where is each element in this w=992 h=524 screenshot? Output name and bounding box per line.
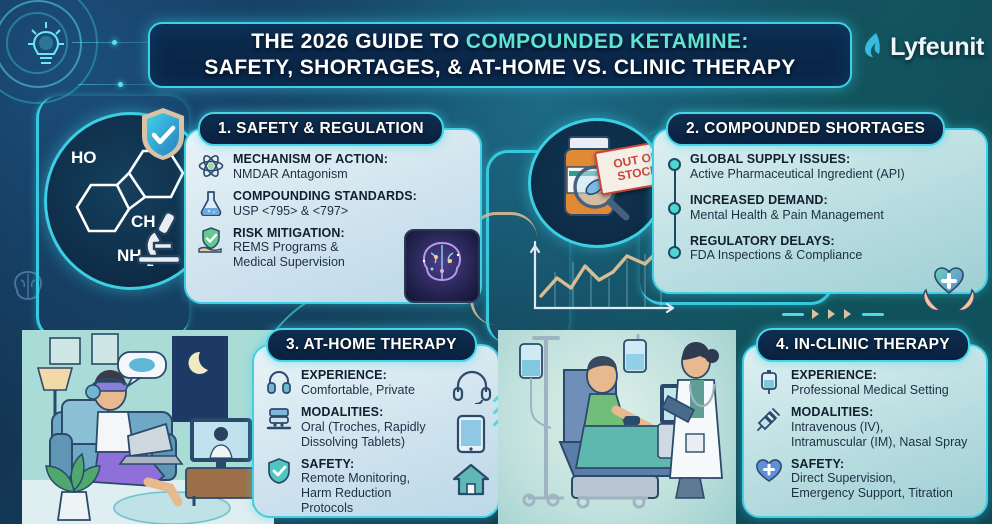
lightning-leaf-icon bbox=[862, 32, 884, 62]
item-description: Direct Supervision, Emergency Support, T… bbox=[791, 471, 953, 501]
in-clinic-therapy-illustration bbox=[498, 330, 736, 524]
item-description: Professional Medical Setting bbox=[791, 383, 949, 398]
shield-check-icon bbox=[266, 458, 292, 484]
brand-name: Lyfeunit bbox=[890, 33, 984, 62]
panel-4-items: EXPERIENCE: Professional Medical Setting… bbox=[756, 368, 978, 508]
brain-network-thumbnail bbox=[404, 229, 480, 303]
item-description: Comfortable, Private bbox=[301, 383, 415, 398]
brain-network-graphic bbox=[406, 231, 478, 301]
list-item-text: INCREASED DEMAND: Mental Health & Pain M… bbox=[690, 193, 884, 223]
list-item-text: GLOBAL SUPPLY ISSUES: Active Pharmaceuti… bbox=[690, 152, 905, 182]
list-item: MECHANISM OF ACTION: NMDAR Antagonism bbox=[198, 152, 472, 182]
timeline-dot bbox=[668, 202, 681, 215]
item-heading: INCREASED DEMAND: bbox=[690, 193, 884, 208]
list-item: EXPERIENCE: Professional Medical Setting bbox=[756, 368, 978, 398]
molecule-label-ho: HO bbox=[71, 148, 97, 167]
item-description: Active Pharmaceutical Ingredient (API) bbox=[690, 167, 905, 182]
list-item: SAFETY: Remote Monitoring, Harm Reductio… bbox=[266, 457, 438, 517]
panel-3-header: 3. AT-HOME THERAPY bbox=[266, 328, 477, 362]
item-description: Remote Monitoring, Harm Reduction Protoc… bbox=[301, 471, 438, 516]
list-item-text: MODALITIES: Oral (Troches, Rapidly Disso… bbox=[301, 405, 426, 450]
iv-bag-icon bbox=[756, 369, 782, 395]
item-heading: GLOBAL SUPPLY ISSUES: bbox=[690, 152, 905, 167]
item-heading: COMPOUNDING STANDARDS: bbox=[233, 189, 417, 204]
item-description: REMS Programs & Medical Supervision bbox=[233, 240, 345, 270]
item-heading: SAFETY: bbox=[791, 457, 953, 472]
microscope-icon bbox=[128, 196, 190, 270]
item-description: Oral (Troches, Rapidly Dissolving Tablet… bbox=[301, 420, 426, 450]
troche-icon bbox=[266, 406, 292, 432]
item-heading: MECHANISM OF ACTION: bbox=[233, 152, 388, 167]
pill-bottle-out-of-stock-illustration: OUT OF STOCK bbox=[528, 118, 666, 248]
home-scene-graphic bbox=[22, 330, 274, 524]
list-item-text: EXPERIENCE: Professional Medical Setting bbox=[791, 368, 949, 398]
timeline-dot bbox=[668, 158, 681, 171]
title-accent: COMPOUNDED KETAMINE: bbox=[466, 30, 749, 53]
panel-at-home-therapy: 3. AT-HOME THERAPY EXPERIENCE: Comfortab… bbox=[252, 328, 500, 518]
circuit-node-1 bbox=[112, 40, 117, 45]
list-item: INCREASED DEMAND: Mental Health & Pain M… bbox=[690, 193, 978, 223]
item-description: Mental Health & Pain Management bbox=[690, 208, 884, 223]
chevron-arrow-1 bbox=[812, 309, 819, 319]
infographic-canvas: THE 2026 GUIDE TO COMPOUNDED KETAMINE: S… bbox=[0, 0, 992, 524]
panel-1-header: 1. SAFETY & REGULATION bbox=[198, 112, 444, 146]
panel-4-header: 4. IN-CLINIC THERAPY bbox=[756, 328, 970, 362]
flask-icon bbox=[198, 190, 224, 216]
list-item: SAFETY: Direct Supervision, Emergency Su… bbox=[756, 457, 978, 502]
panel-3-items: EXPERIENCE: Comfortable, Private MODALIT… bbox=[266, 368, 438, 523]
item-heading: MODALITIES: bbox=[791, 405, 967, 420]
shield-hand-icon bbox=[198, 227, 224, 253]
list-item-text: REGULATORY DELAYS: FDA Inspections & Com… bbox=[690, 234, 862, 264]
headset-icon bbox=[266, 369, 292, 395]
timeline-dot bbox=[668, 246, 681, 259]
lightbulb-icon bbox=[18, 18, 74, 80]
item-heading: SAFETY: bbox=[301, 457, 438, 472]
syringe-icon bbox=[756, 406, 782, 432]
heart-plus-in-hands-icon bbox=[918, 262, 980, 318]
circuit-node-3 bbox=[118, 82, 123, 87]
item-description: NMDAR Antagonism bbox=[233, 167, 388, 182]
chevron-arrow-2 bbox=[828, 309, 835, 319]
item-description: Intravenous (IV), Intramuscular (IM), Na… bbox=[791, 420, 967, 450]
at-home-therapy-illustration bbox=[22, 330, 274, 524]
panel-3-title: 3. AT-HOME THERAPY bbox=[286, 336, 457, 354]
list-item-text: MODALITIES: Intravenous (IV), Intramuscu… bbox=[791, 405, 967, 450]
brand-logo: Lyfeunit bbox=[862, 32, 984, 62]
item-heading: RISK MITIGATION: bbox=[233, 226, 345, 241]
headphones-accessory-icon bbox=[452, 370, 492, 404]
list-item: EXPERIENCE: Comfortable, Private bbox=[266, 368, 438, 398]
item-description: FDA Inspections & Compliance bbox=[690, 248, 862, 263]
page-title: THE 2026 GUIDE TO COMPOUNDED KETAMINE: S… bbox=[148, 22, 852, 88]
list-item: MODALITIES: Oral (Troches, Rapidly Disso… bbox=[266, 405, 438, 450]
list-item-text: RISK MITIGATION: REMS Programs & Medical… bbox=[233, 226, 345, 271]
list-item-text: SAFETY: Direct Supervision, Emergency Su… bbox=[791, 457, 953, 502]
panel-in-clinic-therapy: 4. IN-CLINIC THERAPY EXPERIENCE: Profess… bbox=[742, 328, 988, 518]
title-line-1: THE 2026 GUIDE TO COMPOUNDED KETAMINE: bbox=[251, 31, 749, 54]
panel-1-title: 1. SAFETY & REGULATION bbox=[218, 120, 424, 138]
list-item-text: SAFETY: Remote Monitoring, Harm Reductio… bbox=[301, 457, 438, 517]
item-description: USP <795> & <797> bbox=[233, 204, 417, 219]
tablet-device-icon bbox=[456, 414, 486, 454]
heart-plus-icon bbox=[756, 458, 782, 484]
list-item-text: COMPOUNDING STANDARDS: USP <795> & <797> bbox=[233, 189, 417, 219]
clinic-scene-graphic bbox=[498, 330, 736, 524]
atom-icon bbox=[198, 153, 224, 179]
panel-2-title: 2. COMPOUNDED SHORTAGES bbox=[686, 120, 925, 138]
panel-2-timeline bbox=[668, 156, 682, 276]
item-heading: MODALITIES: bbox=[301, 405, 426, 420]
list-item: MODALITIES: Intravenous (IV), Intramuscu… bbox=[756, 405, 978, 450]
item-heading: EXPERIENCE: bbox=[791, 368, 949, 383]
panel-2-items: GLOBAL SUPPLY ISSUES: Active Pharmaceuti… bbox=[690, 152, 978, 270]
title-line-2: SAFETY, SHORTAGES, & AT-HOME VS. CLINIC … bbox=[204, 57, 795, 80]
shield-check-badge-icon bbox=[138, 106, 188, 162]
list-item: COMPOUNDING STANDARDS: USP <795> & <797> bbox=[198, 189, 472, 219]
house-icon bbox=[452, 462, 490, 496]
chevron-dash-right bbox=[862, 313, 884, 316]
list-item-text: EXPERIENCE: Comfortable, Private bbox=[301, 368, 415, 398]
panel-2-header: 2. COMPOUNDED SHORTAGES bbox=[666, 112, 945, 146]
chevron-arrow-3 bbox=[844, 309, 851, 319]
item-heading: EXPERIENCE: bbox=[301, 368, 415, 383]
list-item: REGULATORY DELAYS: FDA Inspections & Com… bbox=[690, 234, 978, 264]
item-heading: REGULATORY DELAYS: bbox=[690, 234, 862, 249]
panel-4-title: 4. IN-CLINIC THERAPY bbox=[776, 336, 950, 354]
list-item-text: MECHANISM OF ACTION: NMDAR Antagonism bbox=[233, 152, 388, 182]
chevron-dash-left bbox=[782, 313, 804, 316]
list-item: GLOBAL SUPPLY ISSUES: Active Pharmaceuti… bbox=[690, 152, 978, 182]
